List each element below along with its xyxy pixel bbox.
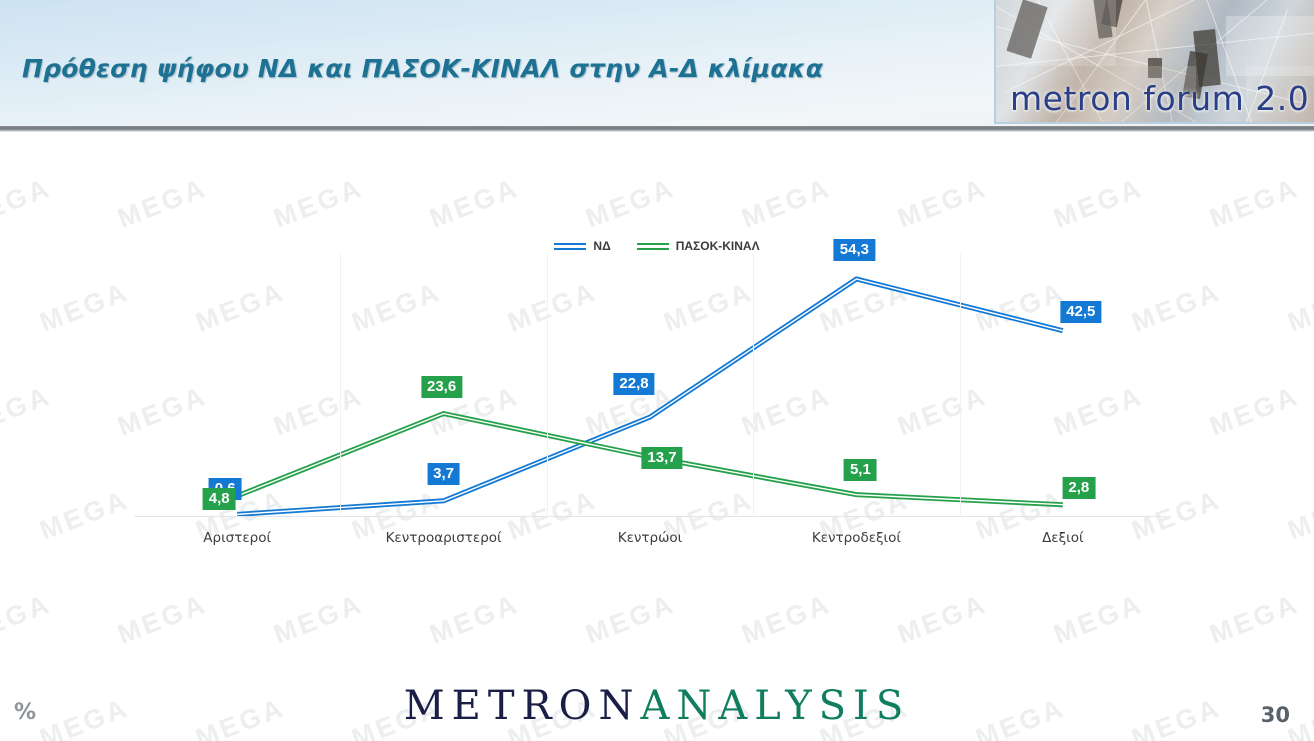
series-line-highlight bbox=[237, 279, 1063, 514]
data-label: 4,8 bbox=[203, 488, 236, 510]
data-label: 42,5 bbox=[1060, 301, 1101, 323]
logo-wordmark: metron forum 2.0 bbox=[1010, 79, 1309, 118]
x-tick-label: Κεντροαριστεροί bbox=[386, 530, 502, 546]
data-label: 5,1 bbox=[844, 459, 877, 481]
legend-label-nd: ΝΔ bbox=[593, 239, 610, 253]
data-label: 13,7 bbox=[641, 447, 682, 469]
data-label: 54,3 bbox=[834, 239, 875, 261]
chart-legend: ΝΔ ΠΑΣΟΚ-ΚΙΝΑΛ bbox=[0, 236, 1314, 256]
data-label: 3,7 bbox=[427, 463, 460, 485]
data-label: 2,8 bbox=[1062, 477, 1095, 499]
page-title: Πρόθεση ψήφου ΝΔ και ΠΑΣΟΚ-ΚΙΝΑΛ στην Α-… bbox=[22, 54, 823, 83]
metron-forum-logo: metron forum 2.0 bbox=[994, 0, 1314, 124]
vertical-gridline bbox=[547, 254, 548, 517]
header-divider-rule bbox=[0, 126, 1314, 132]
x-axis-tick-labels: ΑριστεροίΚεντροαριστεροίΚεντρώοιΚεντροδε… bbox=[134, 530, 1166, 552]
x-axis-line bbox=[134, 516, 1166, 517]
x-tick-label: Κεντροδεξιοί bbox=[812, 530, 901, 546]
series-line-nd bbox=[237, 279, 1063, 514]
legend-label-pasok-kinal: ΠΑΣΟΚ-ΚΙΝΑΛ bbox=[676, 239, 760, 253]
logo-facet bbox=[996, 0, 1116, 66]
vertical-gridline bbox=[960, 254, 961, 517]
legend-swatch-pasok-kinal bbox=[637, 243, 669, 250]
vertical-gridline bbox=[753, 254, 754, 517]
data-label: 22,8 bbox=[613, 373, 654, 395]
x-tick-label: Δεξιοί bbox=[1042, 530, 1083, 546]
legend-item-nd[interactable]: ΝΔ bbox=[554, 239, 610, 253]
brand-metron: METRON bbox=[404, 683, 641, 729]
page-number: 30 bbox=[1261, 703, 1290, 727]
x-tick-label: Κεντρώοι bbox=[618, 530, 683, 546]
vertical-gridline bbox=[340, 254, 341, 517]
brand-analysis: ANALYSIS bbox=[640, 683, 910, 729]
metron-analysis-brand: METRONANALYSIS bbox=[0, 683, 1314, 729]
line-chart: ΝΔ ΠΑΣΟΚ-ΚΙΝΑΛ 0,63,722,854,342,54,823,6… bbox=[0, 132, 1314, 602]
slide-footer: % METRONANALYSIS 30 bbox=[0, 651, 1314, 741]
x-tick-label: Αριστεροί bbox=[203, 530, 271, 546]
legend-swatch-nd bbox=[554, 243, 586, 250]
data-label: 23,6 bbox=[421, 376, 462, 398]
legend-item-pasok-kinal[interactable]: ΠΑΣΟΚ-ΚΙΝΑΛ bbox=[637, 239, 760, 253]
plot-area: 0,63,722,854,342,54,823,613,75,12,8 bbox=[134, 254, 1166, 517]
